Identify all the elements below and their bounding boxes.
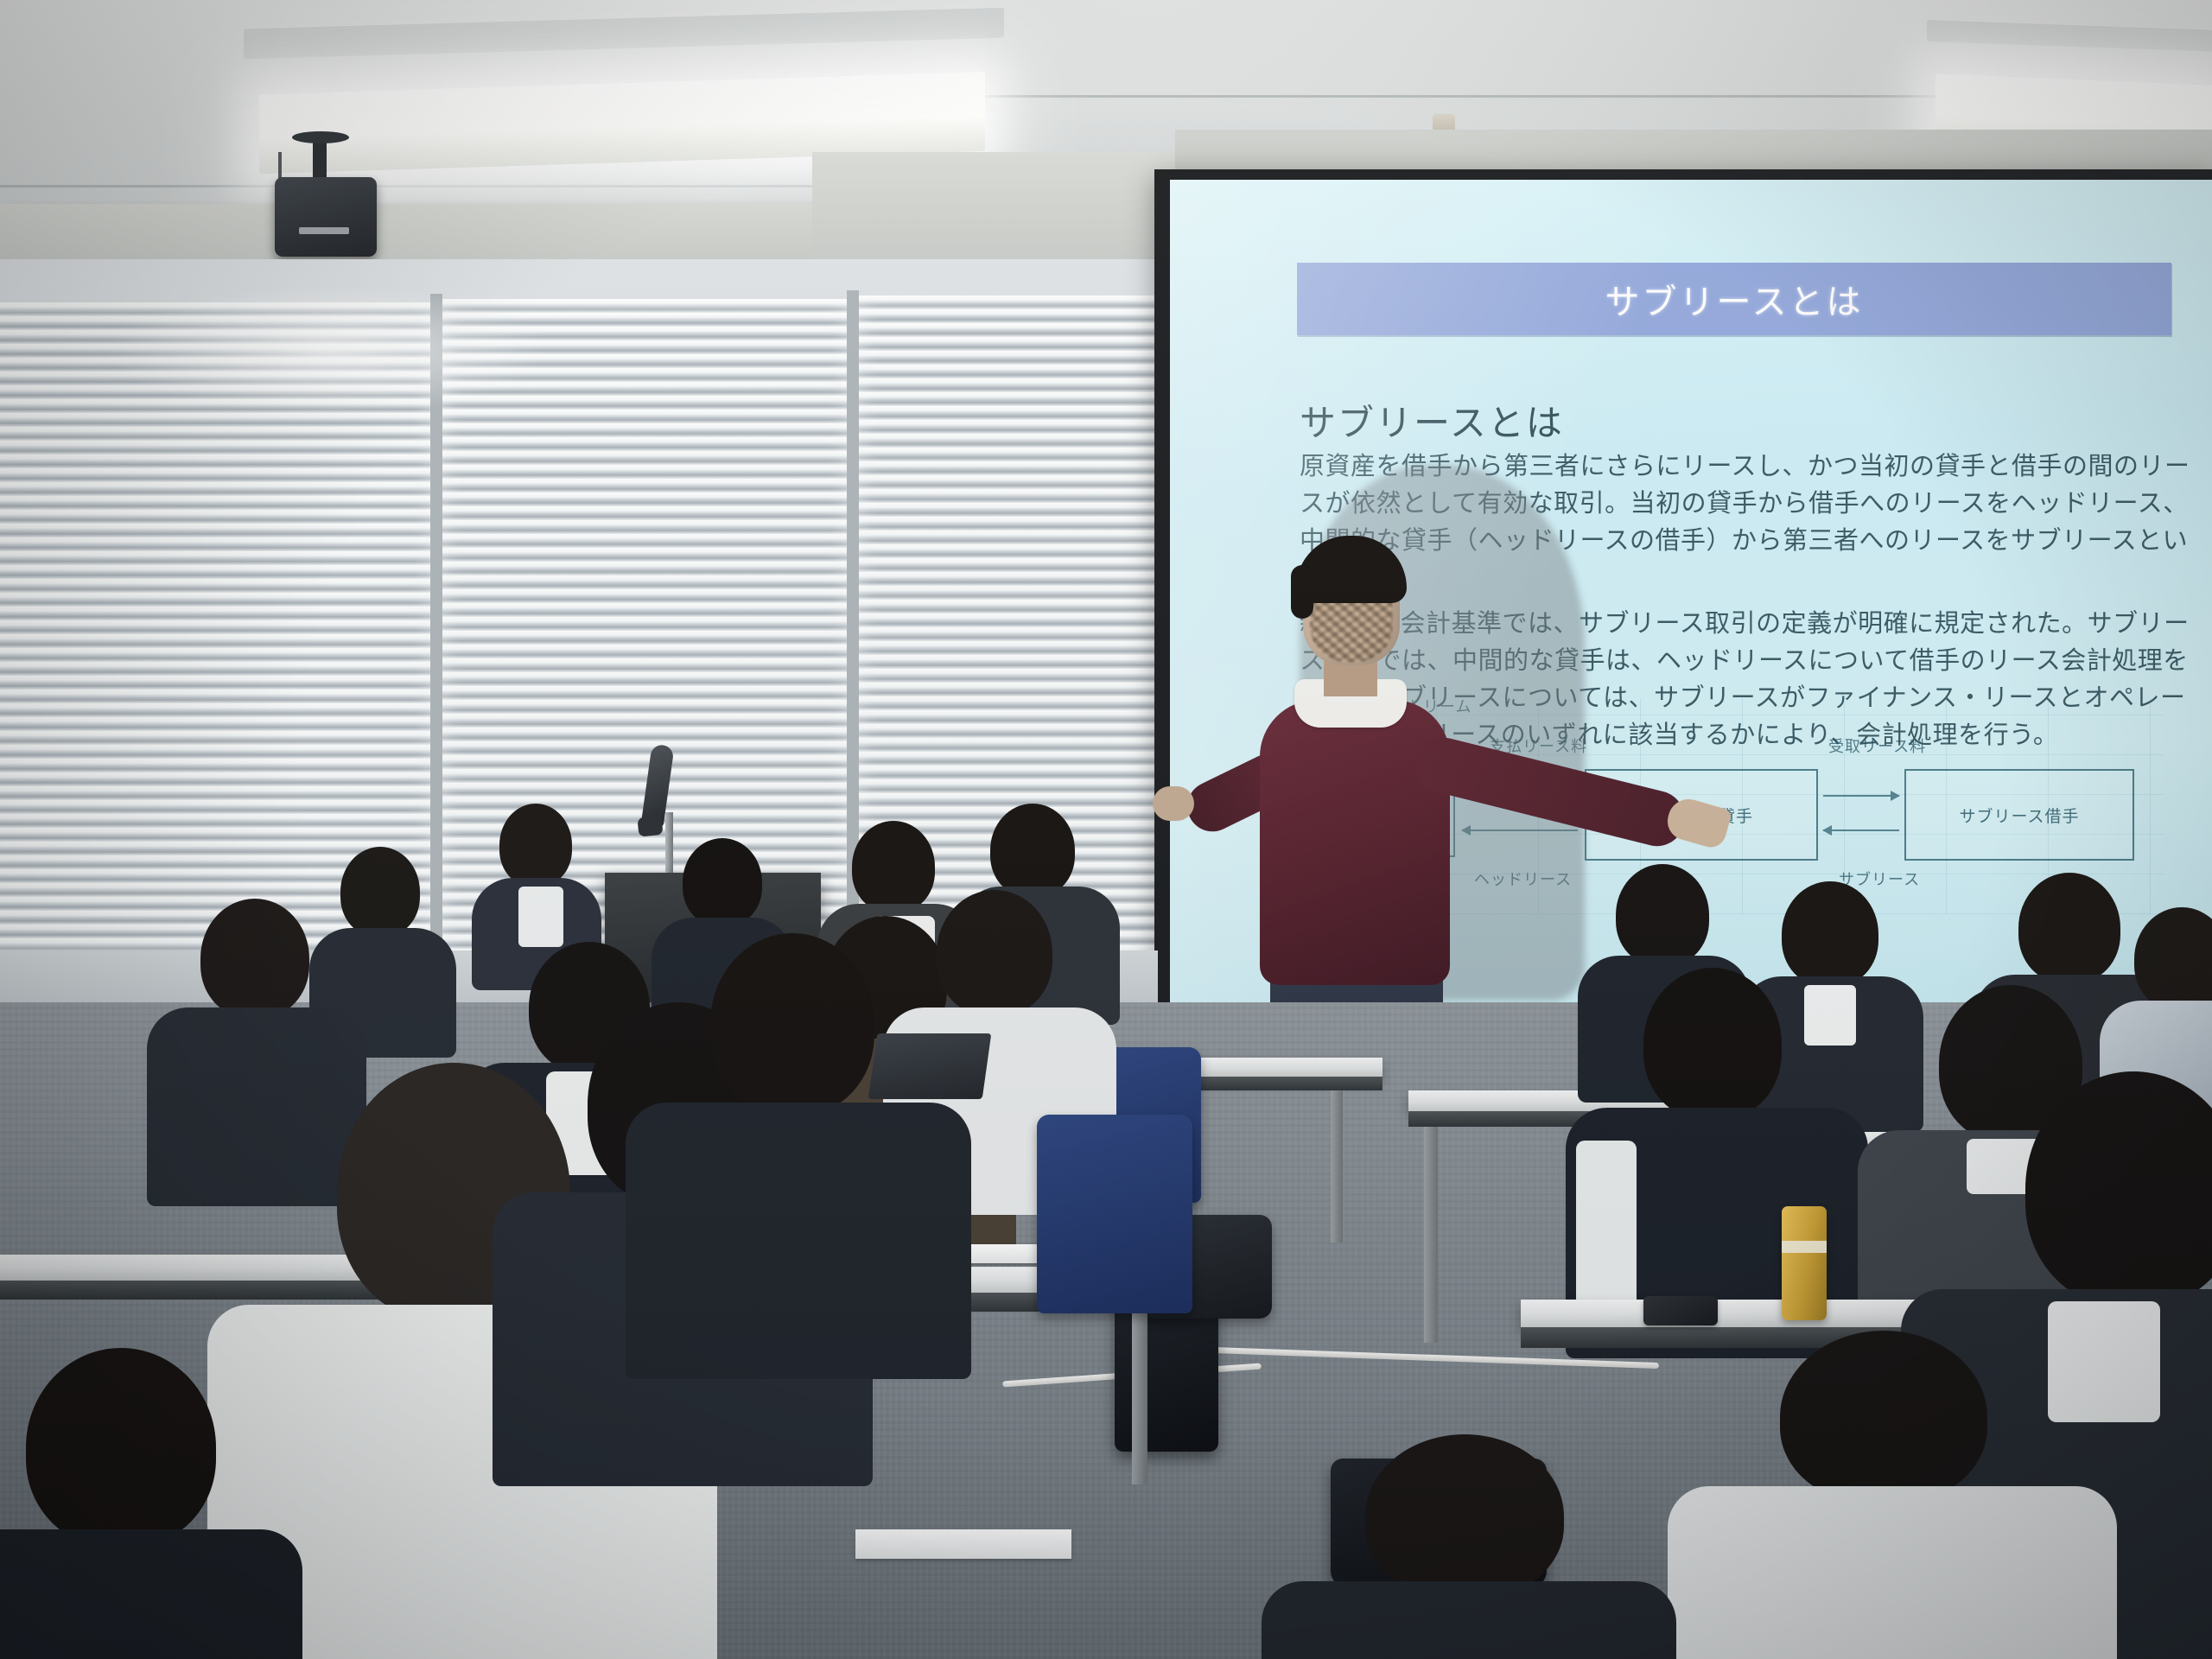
- person-head: [683, 838, 762, 926]
- diagram-arrow-4: [1823, 829, 1899, 831]
- slide-title-bar: サブリースとは: [1297, 263, 2171, 335]
- person-head: [1616, 864, 1709, 966]
- gold-beverage-bottle[interactable]: [1782, 1206, 1827, 1320]
- person-body: [0, 1529, 302, 1659]
- audience-person-front-4: [657, 933, 942, 1339]
- person-head: [2134, 907, 2212, 1011]
- chair-front-1[interactable]: [1037, 1115, 1192, 1313]
- presenter-torso-sweater: [1260, 700, 1450, 985]
- slide-title: サブリースとは: [1605, 274, 1864, 324]
- presenter-hand-left: [1153, 786, 1194, 821]
- person-head: [499, 804, 572, 887]
- person-head: [340, 847, 420, 937]
- diagram-box-sublessee: サブリース借手: [1904, 769, 2134, 861]
- person-head: [200, 899, 309, 1018]
- person-head: [1780, 1331, 1987, 1503]
- person-shirt: [518, 887, 563, 947]
- person-head: [1365, 1434, 1564, 1599]
- ceiling-beam: [812, 152, 1175, 264]
- presenter-arm-right: [1410, 732, 1690, 852]
- person-body: [626, 1103, 971, 1379]
- desk-leg: [1331, 1090, 1343, 1243]
- diagram-arrow-3: [1823, 795, 1899, 797]
- person-head: [2025, 1071, 2212, 1306]
- person-head: [937, 890, 1052, 1016]
- audience-person-front-2: [0, 1348, 285, 1659]
- person-head: [990, 804, 1075, 897]
- speaker-ceiling-plate: [292, 131, 349, 143]
- person-body-white-shirt: [1668, 1486, 2117, 1659]
- speaker-brand-mark: [299, 227, 349, 234]
- person-head: [1643, 968, 1782, 1120]
- bose-speaker-icon: [275, 177, 377, 257]
- desk-leg: [1424, 1127, 1438, 1343]
- person-head: [710, 933, 874, 1115]
- handout-papers[interactable]: [855, 1529, 1071, 1559]
- person-head: [26, 1348, 216, 1547]
- smartphone-on-desk[interactable]: [1643, 1296, 1718, 1325]
- audience-person-front-6: [1711, 1331, 2074, 1659]
- slide-heading: サブリースとは: [1300, 394, 1564, 447]
- presenter-hair: [1296, 536, 1407, 603]
- person-head: [2018, 873, 2120, 983]
- desk-leg: [1132, 1312, 1147, 1484]
- audience-person-front-7: [1296, 1434, 1642, 1659]
- person-body: [1262, 1581, 1676, 1659]
- seminar-room-photo: サブリースとは サブリースとは 原資産を借手から第三者にさらにリースし、かつ当初…: [0, 0, 2212, 1659]
- diagram-top-label-2: 受取リース料: [1828, 734, 1926, 757]
